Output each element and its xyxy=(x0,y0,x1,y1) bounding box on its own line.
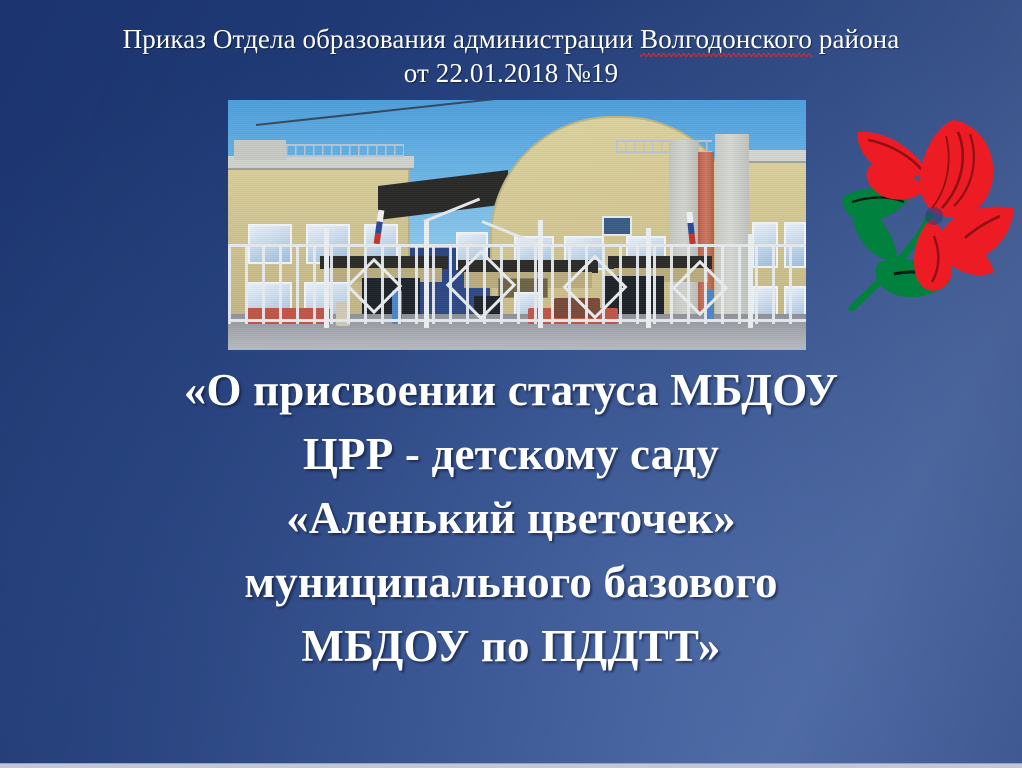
title-line-3: «Аленький цветочек» xyxy=(40,486,982,550)
flower-icon xyxy=(836,112,1022,312)
fence-post xyxy=(646,228,651,328)
title-line-2: ЦРР - детскому саду xyxy=(40,422,982,486)
window-bottom-edge xyxy=(0,763,1022,768)
red-lily-flower-graphic xyxy=(836,112,1022,312)
header-line-2: от 22.01.2018 №19 xyxy=(0,56,1022,90)
fence-post xyxy=(324,228,329,328)
fence-post xyxy=(424,220,429,328)
slide-title: «О присвоении статуса МБДОУ ЦРР - детско… xyxy=(40,358,982,678)
slide-header: Приказ Отдела образования администрации … xyxy=(0,22,1022,90)
fence-bottom-rail xyxy=(228,319,806,322)
presentation-slide: Приказ Отдела образования администрации … xyxy=(0,0,1022,768)
title-line-4: муниципального базового xyxy=(40,550,982,614)
arch-small-window xyxy=(602,216,632,236)
roof-railing-left xyxy=(286,144,404,157)
fence-post xyxy=(748,234,753,328)
header-line-1: Приказ Отдела образования администрации … xyxy=(0,22,1022,56)
photo-canvas xyxy=(228,100,806,350)
left-wing-parapet xyxy=(234,140,286,160)
title-line-1: «О присвоении статуса МБДОУ xyxy=(40,358,982,422)
misspelled-word-volgodonskogo: Волгодонского xyxy=(640,22,812,56)
perimeter-fence xyxy=(228,242,806,328)
flower-center xyxy=(925,207,943,225)
kindergarten-building-photo xyxy=(228,100,806,350)
fence-post xyxy=(538,220,543,328)
header-line-1-prefix: Приказ Отдела образования администрации xyxy=(123,24,640,54)
header-line-1-suffix: района xyxy=(812,24,899,54)
title-line-5: МБДОУ по ПДДТТ» xyxy=(40,614,982,678)
